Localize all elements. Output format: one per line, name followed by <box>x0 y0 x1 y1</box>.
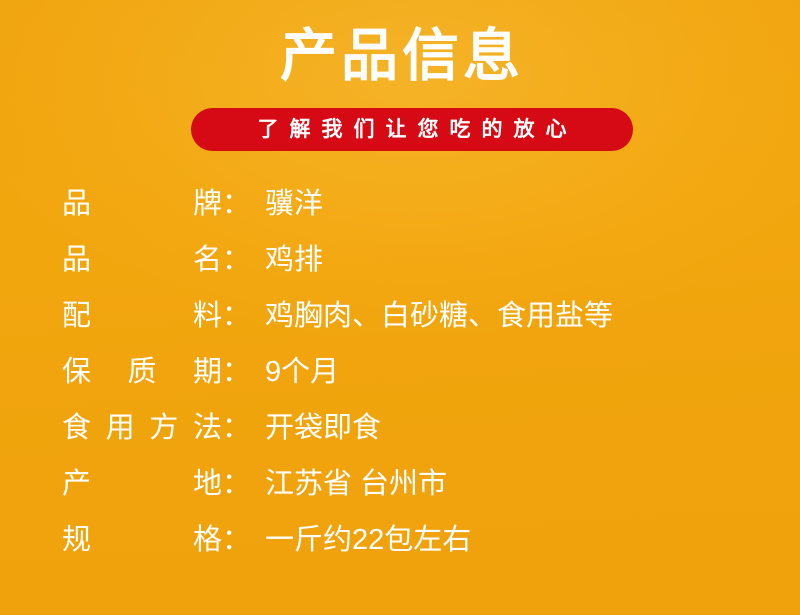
spec-label-specification: 规格 <box>62 521 222 559</box>
spec-label-brand: 品牌 <box>62 185 222 223</box>
product-info-page: 产品信息 了解我们让您吃的放心 品牌 ： 骥洋 品名 ： 鸡排 配料 ： 鸡胸肉… <box>0 0 800 615</box>
spec-value-specification: 一斤约22包左右 <box>265 521 471 559</box>
spec-colon-shelf-life: ： <box>222 353 244 391</box>
spec-colon-ingredients: ： <box>222 297 244 335</box>
spec-colon-serving-method: ： <box>222 409 244 447</box>
spec-colon-product-name: ： <box>222 241 244 279</box>
spec-label-origin: 产地 <box>62 465 222 503</box>
page-header: 产品信息 了解我们让您吃的放心 <box>0 0 800 172</box>
spec-row-specification: 规格 ： 一斤约22包左右 <box>0 512 800 568</box>
spec-row-product-name: 品名 ： 鸡排 <box>0 232 800 288</box>
spec-value-brand: 骥洋 <box>265 185 323 223</box>
spec-value-product-name: 鸡排 <box>265 241 323 279</box>
spec-row-origin: 产地 ： 江苏省 台州市 <box>0 456 800 512</box>
spec-row-ingredients: 配料 ： 鸡胸肉、白砂糖、食用盐等 <box>0 288 800 344</box>
spec-label-serving-method: 食用方法 <box>62 409 222 447</box>
spec-colon-brand: ： <box>222 185 244 223</box>
spec-value-shelf-life: 9个月 <box>265 353 339 391</box>
product-spec-list: 品牌 ： 骥洋 品名 ： 鸡排 配料 ： 鸡胸肉、白砂糖、食用盐等 保质期 ： … <box>0 176 800 568</box>
spec-value-ingredients: 鸡胸肉、白砂糖、食用盐等 <box>265 297 613 335</box>
tagline-banner: 了解我们让您吃的放心 <box>191 108 633 151</box>
spec-row-serving-method: 食用方法 ： 开袋即食 <box>0 400 800 456</box>
spec-label-product-name: 品名 <box>62 241 222 279</box>
spec-row-brand: 品牌 ： 骥洋 <box>0 176 800 232</box>
spec-value-serving-method: 开袋即食 <box>265 409 381 447</box>
spec-label-shelf-life: 保质期 <box>62 353 222 391</box>
spec-value-origin: 江苏省 台州市 <box>265 465 447 503</box>
tagline-text: 了解我们让您吃的放心 <box>247 118 578 142</box>
spec-row-shelf-life: 保质期 ： 9个月 <box>0 344 800 400</box>
page-title: 产品信息 <box>0 22 800 90</box>
spec-colon-origin: ： <box>222 465 244 503</box>
spec-label-ingredients: 配料 <box>62 297 222 335</box>
spec-colon-specification: ： <box>222 521 244 559</box>
